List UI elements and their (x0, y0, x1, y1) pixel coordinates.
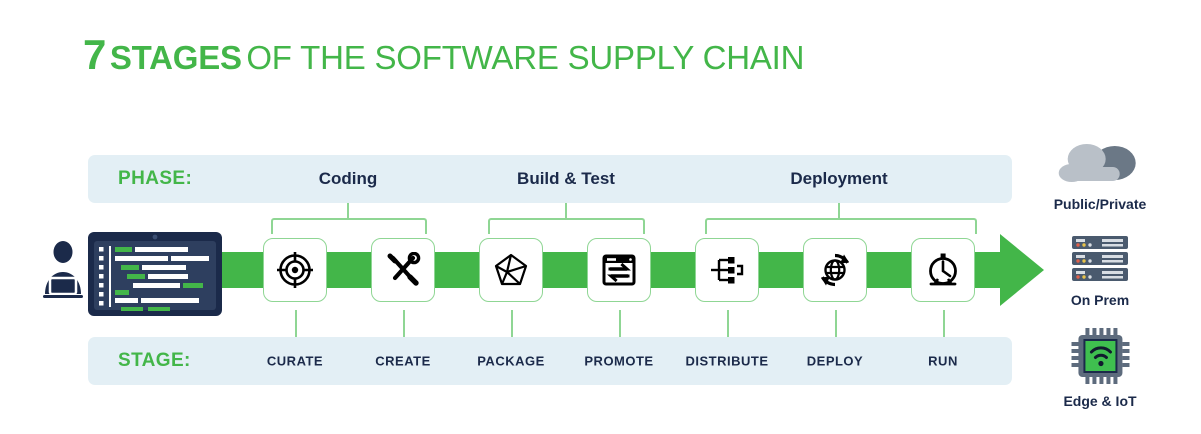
globe-refresh-icon (817, 252, 853, 288)
stage-label-create: CREATE (375, 354, 430, 369)
stage-icon-promote[interactable] (587, 238, 651, 302)
stage-label-promote: PROMOTE (584, 354, 653, 369)
bracket-coding (271, 218, 427, 234)
network-tree-icon (709, 252, 745, 288)
stage-icon-curate[interactable] (263, 238, 327, 302)
phase-band-label: PHASE: (118, 168, 192, 190)
stage-icon-deploy[interactable] (803, 238, 867, 302)
target-public-private: Public/Private (1054, 143, 1147, 212)
bracket-deployment (705, 218, 977, 234)
stage-tick-distribute (727, 310, 729, 340)
page-title: 7 STAGES OF THE SOFTWARE SUPPLY CHAIN (83, 34, 804, 76)
stage-label-package: PACKAGE (477, 354, 545, 369)
stage-label-distribute: DISTRIBUTE (686, 354, 769, 369)
phase-band: PHASE: Coding Build & Test Deployment (88, 155, 1012, 203)
stopwatch-icon (925, 252, 961, 288)
stage-tick-run (943, 310, 945, 340)
stage-label-deploy: DEPLOY (807, 354, 863, 369)
stage-tick-curate (295, 310, 297, 340)
polyhedron-icon (493, 252, 529, 288)
target-on-prem: On Prem (1070, 235, 1130, 308)
stage-icon-create[interactable] (371, 238, 435, 302)
phase-title-build-test: Build & Test (517, 169, 615, 189)
stage-band-label: STAGE: (118, 350, 191, 372)
stage-label-curate: CURATE (267, 354, 323, 369)
target-label-edge-iot: Edge & IoT (1063, 393, 1136, 409)
cloud-icon (1057, 143, 1143, 187)
title-rest: OF THE SOFTWARE SUPPLY CHAIN (246, 39, 804, 76)
stage-tick-create (403, 310, 405, 340)
stage-tick-deploy (835, 310, 837, 340)
title-strong-word: STAGES (110, 39, 242, 76)
stage-icon-distribute[interactable] (695, 238, 759, 302)
stage-icon-run[interactable] (911, 238, 975, 302)
stage-label-run: RUN (928, 354, 958, 369)
stage-icon-package[interactable] (479, 238, 543, 302)
target-edge-iot: Edge & IoT (1063, 328, 1136, 409)
bracket-build-test (488, 218, 645, 234)
target-label-on-prem: On Prem (1070, 292, 1130, 308)
stage-tick-promote (619, 310, 621, 340)
developer-at-laptop-icon (40, 240, 86, 302)
tools-icon (385, 252, 421, 288)
target-icon (277, 252, 313, 288)
server-stack-icon (1070, 235, 1130, 283)
right-arrow-icon (1000, 234, 1044, 306)
title-number: 7 (83, 31, 105, 78)
stage-tick-package (511, 310, 513, 340)
bracket-stem-coding (347, 203, 349, 219)
phase-title-deployment: Deployment (790, 169, 887, 189)
bracket-stem-build-test (565, 203, 567, 219)
chip-wifi-icon (1071, 328, 1129, 384)
code-editor-icon (88, 232, 222, 316)
stage-band: STAGE: CURATE CREATE PACKAGE PROMOTE DIS… (88, 337, 1012, 385)
target-label-public-private: Public/Private (1054, 196, 1147, 212)
phase-title-coding: Coding (319, 169, 378, 189)
exchange-window-icon (601, 252, 637, 288)
bracket-stem-deployment (838, 203, 840, 219)
